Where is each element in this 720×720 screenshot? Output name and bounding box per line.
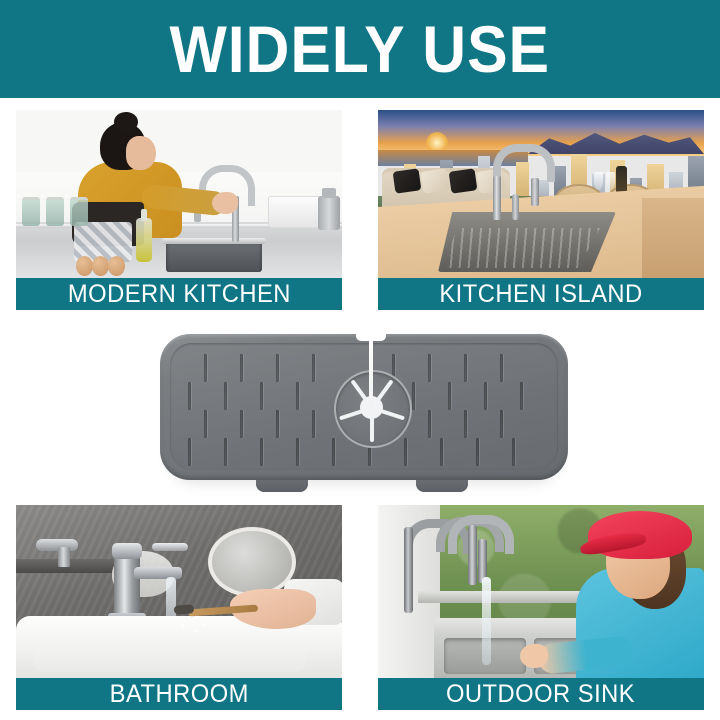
mat-groove [500, 410, 503, 438]
mat-groove [464, 354, 467, 382]
island-faucet-spout [531, 178, 539, 206]
mat-groove [188, 382, 191, 410]
mat-groove [224, 438, 227, 466]
mat-slit-notch [356, 332, 386, 341]
mat-groove [260, 438, 263, 466]
egg [76, 256, 93, 276]
island-faucet-lever [512, 194, 519, 220]
mat-groove [332, 438, 335, 466]
mat-groove [484, 382, 487, 410]
product-image-faucet-mat [160, 334, 568, 486]
glass-jar [46, 197, 64, 226]
mat-groove [428, 354, 431, 382]
header-banner: WIDELY USE [0, 0, 720, 98]
wine-glass [594, 172, 603, 190]
caption-label: BATHROOM [109, 682, 248, 707]
caption-label: MODERN KITCHEN [67, 282, 290, 307]
caption-bar-modern-kitchen: MODERN KITCHEN [16, 278, 342, 310]
mat-groove [188, 438, 191, 466]
mat-groove [260, 382, 263, 410]
sofa-pillow [449, 168, 478, 193]
mat-groove [204, 410, 207, 438]
bathroom-faucet-knob [112, 543, 142, 559]
mat-groove [428, 410, 431, 438]
mat-groove [404, 438, 407, 466]
bathroom-sink-basin [34, 632, 306, 672]
oil-bottle [136, 218, 152, 262]
mat-groove [312, 410, 315, 438]
panel-outdoor-sink: OUTDOOR SINK [378, 505, 704, 710]
mat-groove [276, 354, 279, 382]
mat-groove [520, 382, 523, 410]
glass-jar [22, 197, 40, 226]
egg [92, 256, 109, 276]
woman-hair-bun [114, 112, 138, 132]
mat-groove [296, 382, 299, 410]
mat-groove [476, 438, 479, 466]
kitchen-cabinet [16, 110, 95, 172]
reflected-faucet-body [58, 547, 70, 567]
water-stream [482, 577, 491, 665]
mat-groove [500, 354, 503, 382]
woman-hand [212, 192, 238, 214]
outdoor-pipe [404, 527, 413, 613]
island-faucet-column [493, 176, 501, 220]
glass-jar [70, 197, 88, 226]
kitchen-sink-rim [162, 238, 266, 244]
mat-groove [512, 438, 515, 466]
photo-bathroom [16, 505, 342, 678]
photo-modern-kitchen [16, 110, 342, 278]
caption-label: KITCHEN ISLAND [439, 282, 642, 307]
sink-drain-rack [444, 228, 600, 268]
mat-groove [204, 354, 207, 382]
photo-outdoor-sink [378, 505, 704, 678]
island-cabinet-side [642, 198, 704, 278]
wooden-toothbrush-head [174, 604, 195, 614]
caption-bar-kitchen-island: KITCHEN ISLAND [378, 278, 704, 310]
sofa-pillow [393, 168, 422, 193]
kitchen-cabinet [250, 110, 342, 172]
wine-glass [606, 172, 615, 190]
water-droplets [176, 621, 212, 637]
moka-pot-lid [322, 188, 336, 198]
panel-bathroom: BATHROOM [16, 505, 342, 710]
panel-kitchen-island: KITCHEN ISLAND [378, 110, 704, 310]
mat-groove [240, 354, 243, 382]
girl-hand [520, 644, 548, 668]
mat-slit [369, 333, 373, 409]
round-mirror [208, 527, 296, 597]
mat-foot [416, 480, 468, 492]
island-faucet-arc [493, 144, 555, 182]
mat-groove [240, 410, 243, 438]
sofa-pillow [421, 168, 450, 193]
bathroom-faucet-body [114, 553, 140, 617]
caption-bar-outdoor-sink: OUTDOOR SINK [378, 678, 704, 710]
photo-kitchen-island [378, 110, 704, 278]
reflected-faucet-spout [36, 539, 78, 551]
kitchen-sink-basin [166, 240, 262, 272]
mat-groove [412, 382, 415, 410]
kitchen-cabinet [168, 110, 251, 172]
caption-bar-bathroom: BATHROOM [16, 678, 342, 710]
mat-foot [256, 480, 308, 492]
woman-face [126, 136, 156, 170]
page-title: WIDELY USE [170, 16, 550, 82]
panel-modern-kitchen: MODERN KITCHEN [16, 110, 342, 310]
bathroom-faucet-handle [152, 543, 188, 551]
mat-groove [276, 410, 279, 438]
mat-groove [448, 382, 451, 410]
mat-groove [224, 382, 227, 410]
moka-pot [318, 196, 340, 230]
mat-groove [312, 354, 315, 382]
caption-label: OUTDOOR SINK [446, 682, 635, 707]
oil-bottle-neck [141, 209, 147, 221]
mat-groove [464, 410, 467, 438]
mat-groove [440, 438, 443, 466]
mat-groove [296, 438, 299, 466]
mat-body [160, 334, 568, 480]
egg [108, 256, 125, 276]
